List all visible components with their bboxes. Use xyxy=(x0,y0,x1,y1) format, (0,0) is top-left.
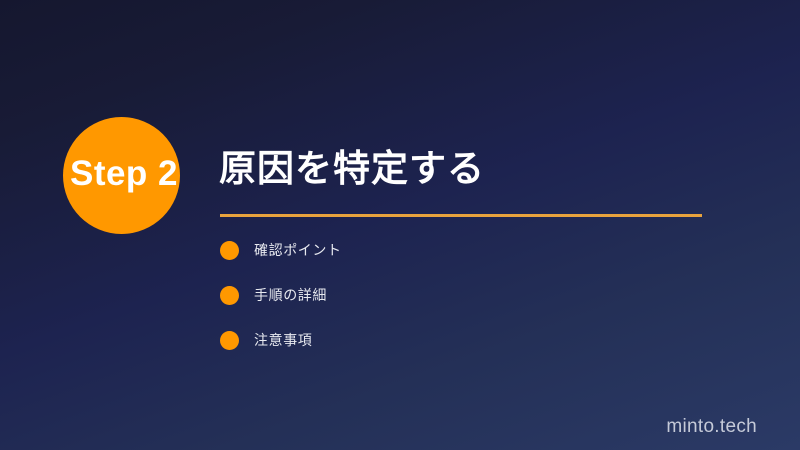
title-underline-rule xyxy=(220,214,702,217)
presentation-slide: Step 2 原因を特定する 確認ポイント 手順の詳細 注意事項 minto.t… xyxy=(0,0,800,450)
footer-brand-text: minto.tech xyxy=(666,416,757,438)
slide-title: 原因を特定する xyxy=(219,146,485,192)
bullet-dot-icon xyxy=(220,241,239,260)
bullet-item-label: 注意事項 xyxy=(254,328,312,352)
bullet-item-label: 手順の詳細 xyxy=(254,283,327,307)
list-item: 確認ポイント xyxy=(220,238,700,283)
list-item: 注意事項 xyxy=(220,328,700,373)
bullet-item-label: 確認ポイント xyxy=(254,238,342,262)
list-item: 手順の詳細 xyxy=(220,283,700,328)
bullet-dot-icon xyxy=(220,331,239,350)
bullet-dot-icon xyxy=(220,286,239,305)
bullet-list: 確認ポイント 手順の詳細 注意事項 xyxy=(220,238,700,373)
step-badge-label: Step 2 xyxy=(44,150,204,198)
